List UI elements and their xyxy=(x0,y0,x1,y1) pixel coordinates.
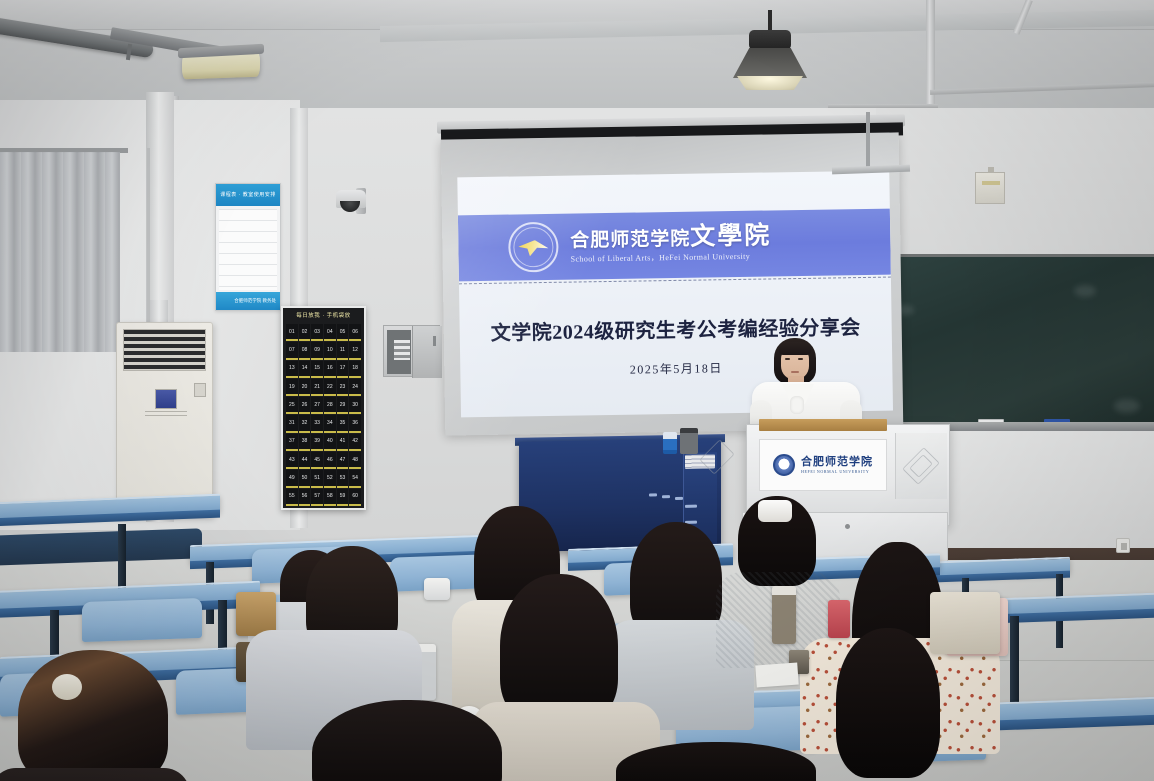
phone-pocket[interactable]: 46 xyxy=(324,452,336,469)
upper-right-wall xyxy=(876,108,1154,256)
electrical-control-box[interactable] xyxy=(383,325,440,377)
dome-security-camera xyxy=(336,190,366,208)
tote-bag-right xyxy=(930,592,1000,654)
podium-name-cn: 合肥师范学院 xyxy=(801,456,873,468)
phone-pocket[interactable]: 30 xyxy=(349,397,361,414)
phone-pocket[interactable]: 18 xyxy=(349,361,361,378)
blackboard xyxy=(876,254,1154,430)
ac-sticker xyxy=(194,383,206,397)
poster-footer-text: 合肥师范学院 教务处 xyxy=(216,292,280,310)
presenter-eye-right xyxy=(798,358,803,360)
control-box-interior xyxy=(387,330,411,374)
phone-pocket[interactable]: 60 xyxy=(349,489,361,506)
phone-pocket[interactable]: 20 xyxy=(299,379,311,396)
phone-storage-board: 每日放我 · 手机袋放 0102030405060708091011121314… xyxy=(281,306,366,510)
phone-pocket[interactable]: 22 xyxy=(324,379,336,396)
phone-pocket[interactable]: 24 xyxy=(349,379,361,396)
phone-pocket[interactable]: 15 xyxy=(311,361,323,378)
phone-pocket[interactable]: 39 xyxy=(311,434,323,451)
hair-scrunchie xyxy=(52,674,82,700)
phone-pocket[interactable]: 03 xyxy=(311,324,323,341)
classroom-scene: 课程表 · 教室使用安排 合肥师范学院 教务处 每日放我 · 手机袋放 0102… xyxy=(0,0,1154,781)
phone-pocket[interactable]: 35 xyxy=(337,415,349,432)
phone-pocket[interactable]: 50 xyxy=(299,470,311,487)
phone-pocket[interactable]: 31 xyxy=(286,415,298,432)
chalkboard-eraser-blue[interactable] xyxy=(1044,419,1070,427)
podium-nameplate: 合肥师范学院 HEFEI NORMAL UNIVERSITY xyxy=(759,439,887,491)
ac-display-panel[interactable] xyxy=(155,389,177,409)
wall-speaker xyxy=(975,172,1005,204)
phone-pocket[interactable]: 55 xyxy=(286,489,298,506)
phone-pocket[interactable]: 02 xyxy=(299,324,311,341)
phone-pocket[interactable]: 51 xyxy=(311,470,323,487)
phone-pocket[interactable]: 56 xyxy=(299,489,311,506)
phone-pocket[interactable]: 41 xyxy=(337,434,349,451)
poster-table-body xyxy=(219,209,277,290)
ceiling-light-fixture xyxy=(182,51,260,80)
phone-pocket[interactable]: 05 xyxy=(337,324,349,341)
chalk-smudge xyxy=(1074,285,1096,297)
phone-pocket[interactable]: 32 xyxy=(299,415,311,432)
phone-pocket[interactable]: 26 xyxy=(299,397,311,414)
console-port[interactable] xyxy=(675,497,683,500)
podium-wood-trim xyxy=(759,419,887,431)
presenter-fringe xyxy=(779,342,811,355)
phone-pocket[interactable]: 58 xyxy=(324,489,336,506)
slide-organization-line: 合肥师范学院文學院 xyxy=(570,221,870,253)
podium-knob xyxy=(845,524,850,529)
paper-handout xyxy=(755,663,798,688)
phone-pocket[interactable]: 57 xyxy=(311,489,323,506)
phone-pocket[interactable]: 52 xyxy=(324,470,336,487)
white-hair-bow xyxy=(758,500,792,522)
phone-pocket[interactable]: 19 xyxy=(286,379,298,396)
projector-mount-arm xyxy=(866,112,870,168)
thermos-on-console xyxy=(680,428,698,454)
phone-pocket[interactable]: 06 xyxy=(349,324,361,341)
slide-department-cn: 文學院 xyxy=(690,222,771,250)
phone-pocket[interactable]: 12 xyxy=(349,342,361,359)
seat-row-5-a[interactable] xyxy=(82,598,202,642)
student-torso xyxy=(0,768,190,781)
poster-header-text: 课程表 · 教室使用安排 xyxy=(216,184,280,206)
university-logo-icon xyxy=(508,222,559,273)
phone-pocket[interactable]: 37 xyxy=(286,434,298,451)
phone-pocket[interactable]: 04 xyxy=(324,324,336,341)
pendant-lamp-glass xyxy=(737,76,803,90)
phone-pocket[interactable]: 23 xyxy=(337,379,349,396)
phone-pocket[interactable]: 11 xyxy=(337,342,349,359)
console-port[interactable] xyxy=(685,505,697,508)
phone-pocket[interactable]: 34 xyxy=(324,415,336,432)
phone-pocket[interactable]: 16 xyxy=(324,361,336,378)
phone-pocket[interactable]: 45 xyxy=(311,452,323,469)
window-curtain xyxy=(0,152,120,352)
phone-pocket[interactable]: 59 xyxy=(337,489,349,506)
phone-pocket[interactable]: 43 xyxy=(286,452,298,469)
air-conditioner-unit xyxy=(116,322,213,518)
phone-board-title: 每日放我 · 手机袋放 xyxy=(283,309,364,323)
breaker-switches[interactable] xyxy=(394,340,410,360)
water-bottle-on-console xyxy=(663,432,677,454)
phone-pocket[interactable]: 54 xyxy=(349,470,361,487)
presenter-mouth xyxy=(791,371,799,373)
university-seal-icon xyxy=(773,454,795,476)
phone-pocket[interactable]: 25 xyxy=(286,397,298,414)
phone-pocket[interactable]: 01 xyxy=(286,324,298,341)
phone-pocket[interactable]: 27 xyxy=(311,397,323,414)
phone-pocket[interactable]: 47 xyxy=(337,452,349,469)
ac-brand-label xyxy=(145,411,187,418)
power-outlet[interactable] xyxy=(1116,538,1130,553)
control-box-door[interactable] xyxy=(412,326,442,378)
phone-pocket[interactable]: 36 xyxy=(349,415,361,432)
ac-vent-grille xyxy=(123,329,206,371)
thermos-flask xyxy=(772,586,796,644)
phone-pocket[interactable]: 08 xyxy=(299,342,311,359)
phone-pocket[interactable]: 10 xyxy=(324,342,336,359)
presenter-bow-tie xyxy=(790,396,804,414)
podium-name-en: HEFEI NORMAL UNIVERSITY xyxy=(801,469,873,474)
phone-pocket[interactable]: 09 xyxy=(311,342,323,359)
presenter-eye-left xyxy=(785,358,790,360)
phone-pocket[interactable]: 38 xyxy=(299,434,311,451)
phone-pocket[interactable]: 40 xyxy=(324,434,336,451)
student-hair xyxy=(18,650,168,781)
phone-pocket[interactable]: 42 xyxy=(349,434,361,451)
chalkboard-eraser[interactable] xyxy=(978,419,1004,427)
phone-pocket[interactable]: 33 xyxy=(311,415,323,432)
phone-pocket[interactable]: 53 xyxy=(337,470,349,487)
phone-pocket[interactable]: 13 xyxy=(286,361,298,378)
phone-pocket[interactable]: 28 xyxy=(324,397,336,414)
pink-water-bottle xyxy=(828,600,850,638)
wall-schedule-poster: 课程表 · 教室使用安排 合肥师范学院 教务处 xyxy=(215,183,281,311)
phone-pocket[interactable]: 17 xyxy=(337,361,349,378)
phone-pocket[interactable]: 07 xyxy=(286,342,298,359)
phone-pocket[interactable]: 29 xyxy=(337,397,349,414)
console-port[interactable] xyxy=(649,493,657,496)
desk-leg xyxy=(1010,616,1019,702)
phone-pocket[interactable]: 48 xyxy=(349,452,361,469)
phone-pocket[interactable]: 14 xyxy=(299,361,311,378)
pendant-lamp-cap xyxy=(749,30,791,50)
slide-organization-cn: 合肥师范学院 xyxy=(570,229,690,252)
cup-on-desk xyxy=(424,578,450,600)
phone-pocket[interactable]: 49 xyxy=(286,470,298,487)
console-port[interactable] xyxy=(662,495,670,498)
phone-pocket[interactable]: 21 xyxy=(311,379,323,396)
podium-side-wing xyxy=(895,433,947,499)
phone-pocket-grid: 0102030405060708091011121314151617181920… xyxy=(286,324,361,506)
chalk-smudge xyxy=(1114,399,1140,413)
phone-pocket[interactable]: 44 xyxy=(299,452,311,469)
student-hair xyxy=(836,628,940,778)
